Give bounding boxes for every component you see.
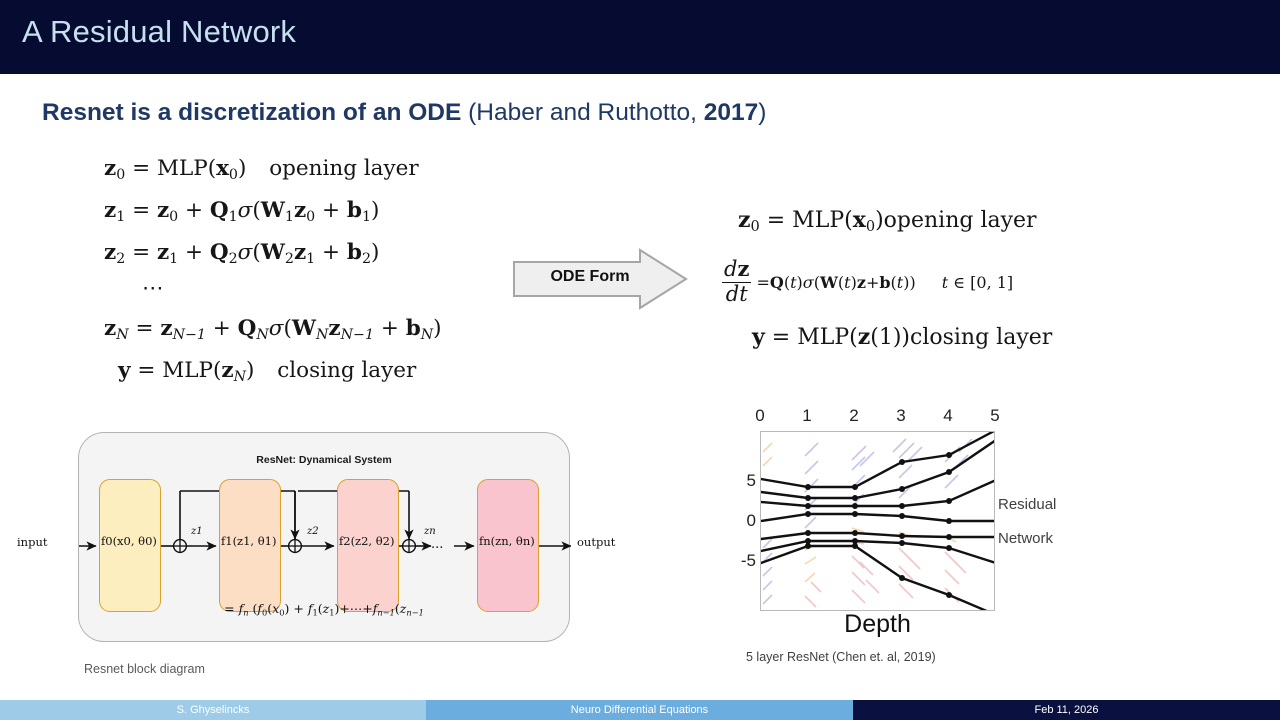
subtitle-citation-open: (Haber and Ruthotto, xyxy=(461,99,703,126)
edge-label-z2: z2 xyxy=(307,526,319,537)
y-tick-0: 0 xyxy=(736,511,756,531)
footer-author: S. Ghyselincks xyxy=(0,700,426,720)
subtitle-citation-year: 2017 xyxy=(704,99,759,126)
x-tick-5: 5 xyxy=(990,406,999,426)
trajectory-plot-area xyxy=(760,431,995,611)
resnet-block-n-label: fn(zn, θn) xyxy=(479,534,535,548)
edge-label-z1: z1 xyxy=(191,526,203,537)
equation-ode-z0: z0 = MLP(x0)opening layer xyxy=(722,200,1052,247)
slide-title-bar: A Residual Network xyxy=(0,0,1280,74)
equation-z2: z2 = z1 + Q2σ(W2z1 + b2) xyxy=(104,232,442,274)
resnet-block-0-label: f0(x0, θ0) xyxy=(101,534,157,548)
block-diagram-caption: Resnet block diagram xyxy=(84,662,205,676)
equation-z1: z1 = z0 + Q1σ(W1z0 + b1) xyxy=(104,190,442,232)
equation-zN: zN = zN−1 + QNσ(WNzN−1 + bN) xyxy=(104,308,442,350)
block-diagram-equation: = fn (f0(x0) + f1(z1)+⋯+fn−1(zn−1 xyxy=(79,601,569,617)
x-tick-1: 1 xyxy=(802,406,811,426)
footer-course: Neuro Differential Equations xyxy=(426,700,853,720)
equation-z0: z0 = MLP(x0) opening layer xyxy=(104,148,442,190)
ode-continuous-equations: z0 = MLP(x0)opening layer dz dt = Q(t)σ(… xyxy=(722,200,1052,358)
resnet-block-2-label: f2(z2, θ2) xyxy=(339,534,394,548)
trajectory-plot-svg xyxy=(761,432,995,611)
ode-form-arrow: ODE Form xyxy=(512,248,688,310)
footer-date: Feb 11, 2026 xyxy=(853,700,1280,720)
x-tick-3: 3 xyxy=(896,406,905,426)
diagram-ellipsis: ... xyxy=(431,537,443,552)
equation-ellipsis: ⋯ xyxy=(104,274,442,308)
diagram-input-label: input xyxy=(17,535,47,549)
y-tick-5: 5 xyxy=(736,471,756,491)
slide-subtitle: Resnet is a discretization of an ODE (Ha… xyxy=(42,99,766,127)
subtitle-bold-part: Resnet is a discretization of an ODE xyxy=(42,99,461,126)
edge-label-zn: zn xyxy=(424,526,436,537)
resnet-block-1-label: f1(z1, θ1) xyxy=(221,534,276,548)
slide-footer: S. Ghyselincks Neuro Differential Equati… xyxy=(0,700,1280,720)
resnet-discrete-equations: z0 = MLP(x0) opening layer z1 = z0 + Q1σ… xyxy=(104,148,442,392)
y-tick-minus5: -5 xyxy=(730,551,756,571)
derivative-fraction: dz dt xyxy=(722,258,751,306)
diagram-output-label: output xyxy=(577,535,615,549)
ode-form-label: ODE Form xyxy=(534,268,646,286)
x-tick-4: 4 xyxy=(943,406,952,426)
annotation-network: Network xyxy=(998,530,1053,547)
equation-ode-dzdt: dz dt = Q(t)σ(W(t)z + b(t)) t ∈ [0, 1] xyxy=(722,247,1052,317)
resnet-block-diagram: ResNet: Dynamical System xyxy=(78,432,570,642)
resnet-trajectory-figure: 0 1 2 3 4 5 5 0 -5 xyxy=(740,406,1050,638)
x-axis-label: Depth xyxy=(760,610,995,639)
equation-y: y = MLP(zN) closing layer xyxy=(104,350,442,392)
x-tick-0: 0 xyxy=(755,406,764,426)
subtitle-citation-close: ) xyxy=(758,99,766,126)
equation-ode-y: y = MLP(z(1))closing layer xyxy=(722,317,1052,358)
right-figure-caption: 5 layer ResNet (Chen et. al, 2019) xyxy=(746,650,936,664)
page-title: A Residual Network xyxy=(22,14,296,50)
x-tick-2: 2 xyxy=(849,406,858,426)
annotation-residual: Residual xyxy=(998,496,1056,513)
